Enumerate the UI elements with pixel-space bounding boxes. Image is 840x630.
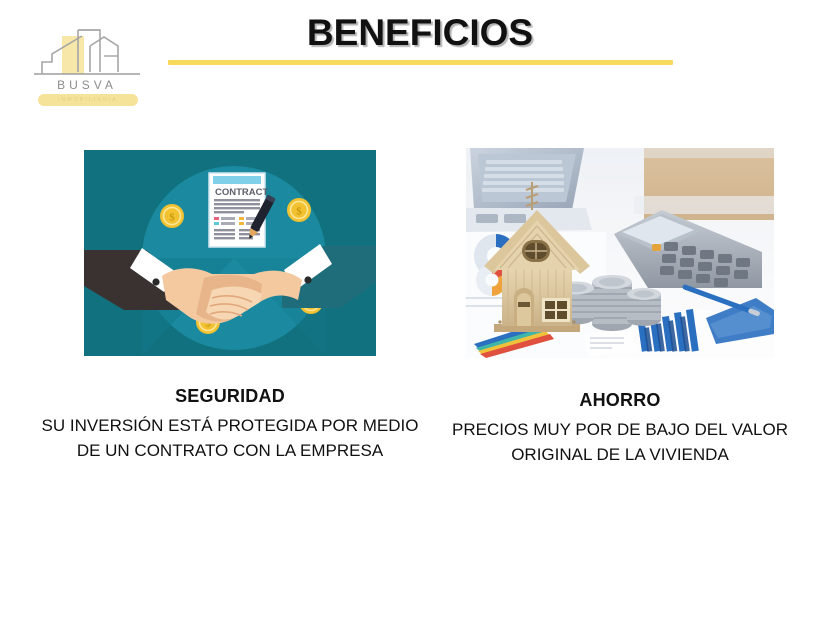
handshake-contract-illustration: $ $ $ $ CONTRACT (84, 150, 376, 356)
svg-text:$: $ (169, 212, 175, 224)
benefit-heading-seguridad: SEGURIDAD (40, 386, 420, 407)
svg-text:CONTRACT: CONTRACT (215, 187, 268, 198)
house-coins-calculator-photo (466, 148, 774, 358)
benefit-text-ahorro: PRECIOS MUY POR DE BAJO DEL VALOR ORIGIN… (430, 418, 810, 467)
benefit-column-ahorro: AHORRO PRECIOS MUY POR DE BAJO DEL VALOR… (430, 148, 810, 467)
benefit-text-seguridad: SU INVERSIÓN ESTÁ PROTEGIDA POR MEDIO DE… (40, 414, 420, 463)
page-title: BENEFICIOS (0, 12, 840, 54)
svg-text:$: $ (296, 206, 302, 218)
benefit-heading-ahorro: AHORRO (430, 390, 810, 411)
logo-wordmark: BUSVA (28, 78, 146, 92)
benefit-column-seguridad: $ $ $ $ CONTRACT (40, 148, 420, 463)
title-underline-rule (168, 60, 673, 65)
logo-tagline: INMOBILIARIA (38, 94, 138, 106)
